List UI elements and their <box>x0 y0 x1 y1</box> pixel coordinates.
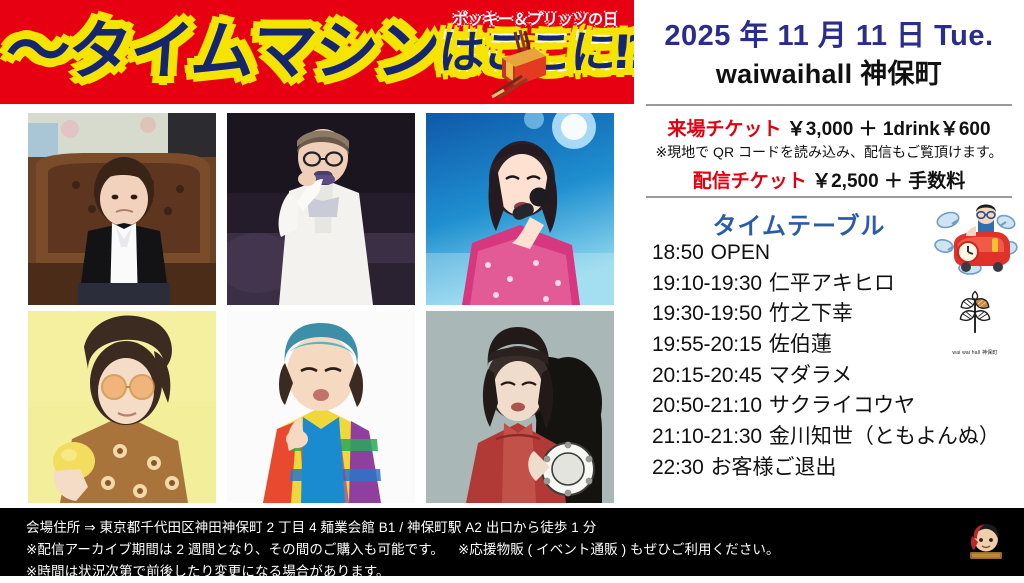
performer-photo-1 <box>227 113 415 305</box>
performer-photo-3 <box>28 311 216 503</box>
footer-goods-note: ※応援物販 ( イベント通販 ) もぜひご利用ください。 <box>458 542 780 557</box>
timetable-row: 18:50OPEN <box>652 238 1024 269</box>
pocky-box-icon <box>482 24 552 102</box>
timetable-time: 19:55-20:15 <box>652 333 762 356</box>
divider-bottom <box>646 196 1012 198</box>
timetable-row: 20:50-21:10サクライコウヤ <box>652 391 1024 422</box>
timetable-name: 佐伯蓮 <box>769 333 832 356</box>
timetable-name: OPEN <box>711 241 771 264</box>
footer-bar: 会場住所 ⇒ 東京都千代田区神田神保町 2 丁目 4 麺業会館 B1 / 神保町… <box>0 508 1024 576</box>
timetable-name: 仁平アキヒロ <box>769 272 895 295</box>
footer-line-archive: ※配信アーカイブ期間は 2 週間となり、その間のご購入も可能です。※応援物販 (… <box>26 539 956 561</box>
ticket-note: ※現地で QR コードを読み込み、配信もご覧頂けます。 <box>634 142 1024 162</box>
wheat-plant-logo-icon <box>940 288 1010 338</box>
hall-logo: wai wai hall 神保町 <box>940 288 1010 356</box>
performer-photo-grid <box>28 113 614 504</box>
performer-photo-4 <box>227 311 415 503</box>
mascot-character-logo-icon <box>966 522 1006 564</box>
timetable-time: 18:50 <box>652 241 704 264</box>
timetable-row: 21:10-21:30金川知世（ともよんぬ） <box>652 422 1024 453</box>
timetable-name: 竹之下幸 <box>769 302 853 325</box>
performer-photo-0 <box>28 113 216 305</box>
timetable-time: 21:10-21:30 <box>652 425 762 448</box>
info-panel: 2025 年 11 月 11 日 Tue. waiwaihall 神保町 来場チ… <box>634 0 1024 508</box>
performer-photo-2 <box>426 113 614 305</box>
divider-top <box>646 104 1012 106</box>
timetable-heading: タイムテーブル <box>634 206 964 241</box>
stream-ticket-label: 配信チケット <box>693 171 807 192</box>
timetable-row: 20:15-20:45マダラメ <box>652 361 1024 392</box>
footer-text-block: 会場住所 ⇒ 東京都千代田区神田神保町 2 丁目 4 麺業会館 B1 / 神保町… <box>26 517 956 583</box>
flyer-root: 〜タイムマシンはここに⁉〜 ポッキー＆プリッツの日 <box>0 0 1024 576</box>
footer-archive-note: ※配信アーカイブ期間は 2 週間となり、その間のご購入も可能です。 <box>26 542 444 557</box>
timetable-name: マダラメ <box>769 364 852 387</box>
timetable-name: サクライコウヤ <box>769 394 915 417</box>
venue-ticket-label: 来場チケット <box>667 119 781 140</box>
timetable-name: お客様ご退出 <box>711 456 837 479</box>
timetable-row: 22:30お客様ご退出 <box>652 453 1024 484</box>
timetable-list: 18:50OPEN 19:10-19:30仁平アキヒロ 19:30-19:50竹… <box>652 238 1024 483</box>
event-title-main: 〜タイムマシン <box>4 20 441 84</box>
timetable-time: 20:15-20:45 <box>652 364 762 387</box>
venue-ticket-line: 来場チケット ￥3,000 ＋ 1drink￥600 <box>634 114 1024 141</box>
performer-photo-5 <box>426 311 614 503</box>
stream-ticket-price: ￥2,500 ＋ 手数料 <box>812 171 965 192</box>
hall-logo-caption: wai wai hall 神保町 <box>940 349 1010 356</box>
timetable-time: 22:30 <box>652 456 704 479</box>
event-venue: waiwaihall 神保町 <box>634 52 1024 91</box>
timetable-time: 20:50-21:10 <box>652 394 762 417</box>
timetable-time: 19:30-19:50 <box>652 302 762 325</box>
banner-subtitle: ポッキー＆プリッツの日 <box>453 8 618 29</box>
footer-line-time-note: ※時間は状況次第で前後したり変更になる場合があります。 <box>26 561 956 583</box>
title-banner: 〜タイムマシンはここに⁉〜 ポッキー＆プリッツの日 <box>0 0 634 104</box>
stream-ticket-line: 配信チケット ￥2,500 ＋ 手数料 <box>634 166 1024 193</box>
timetable-name: 金川知世（ともよんぬ） <box>769 425 1000 448</box>
venue-ticket-price: ￥3,000 ＋ 1drink￥600 <box>787 119 991 140</box>
timetable-time: 19:10-19:30 <box>652 272 762 295</box>
event-date: 2025 年 11 月 11 日 Tue. <box>634 12 1024 54</box>
footer-line-address: 会場住所 ⇒ 東京都千代田区神田神保町 2 丁目 4 麺業会館 B1 / 神保町… <box>26 517 956 539</box>
